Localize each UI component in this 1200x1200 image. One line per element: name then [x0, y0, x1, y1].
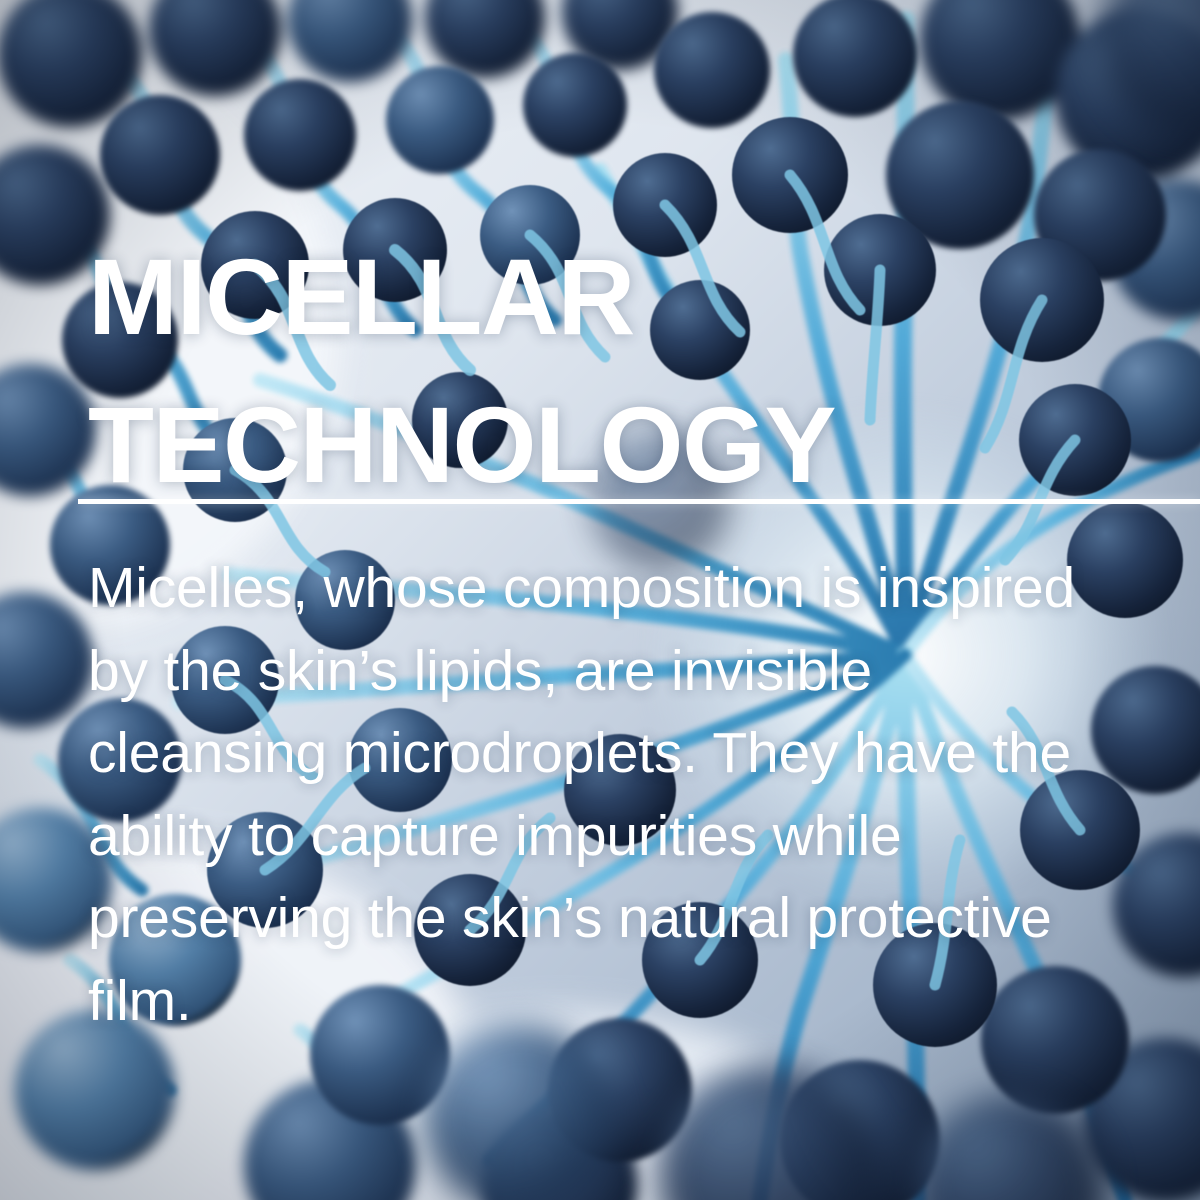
body-paragraph: Micelles, whose composition is inspired … [88, 547, 1158, 1042]
title-divider-rule [78, 499, 1200, 504]
body-line: ability to capture impurities while [88, 795, 1158, 878]
body-line: Micelles, whose composition is inspired [88, 547, 1158, 630]
text-overlay: MICELLAR TECHNOLOGY Micelles, whose comp… [0, 0, 1200, 1200]
page-title-line-1: MICELLAR [88, 243, 634, 351]
product-info-card: MICELLAR TECHNOLOGY Micelles, whose comp… [0, 0, 1200, 1200]
body-line: preserving the skin’s natural protective [88, 877, 1158, 960]
page-title-line-2: TECHNOLOGY [88, 391, 835, 499]
body-line: by the skin’s lipids, are invisible [88, 630, 1158, 713]
body-line: cleansing microdroplets. They have the [88, 712, 1158, 795]
body-line: film. [88, 960, 1158, 1043]
